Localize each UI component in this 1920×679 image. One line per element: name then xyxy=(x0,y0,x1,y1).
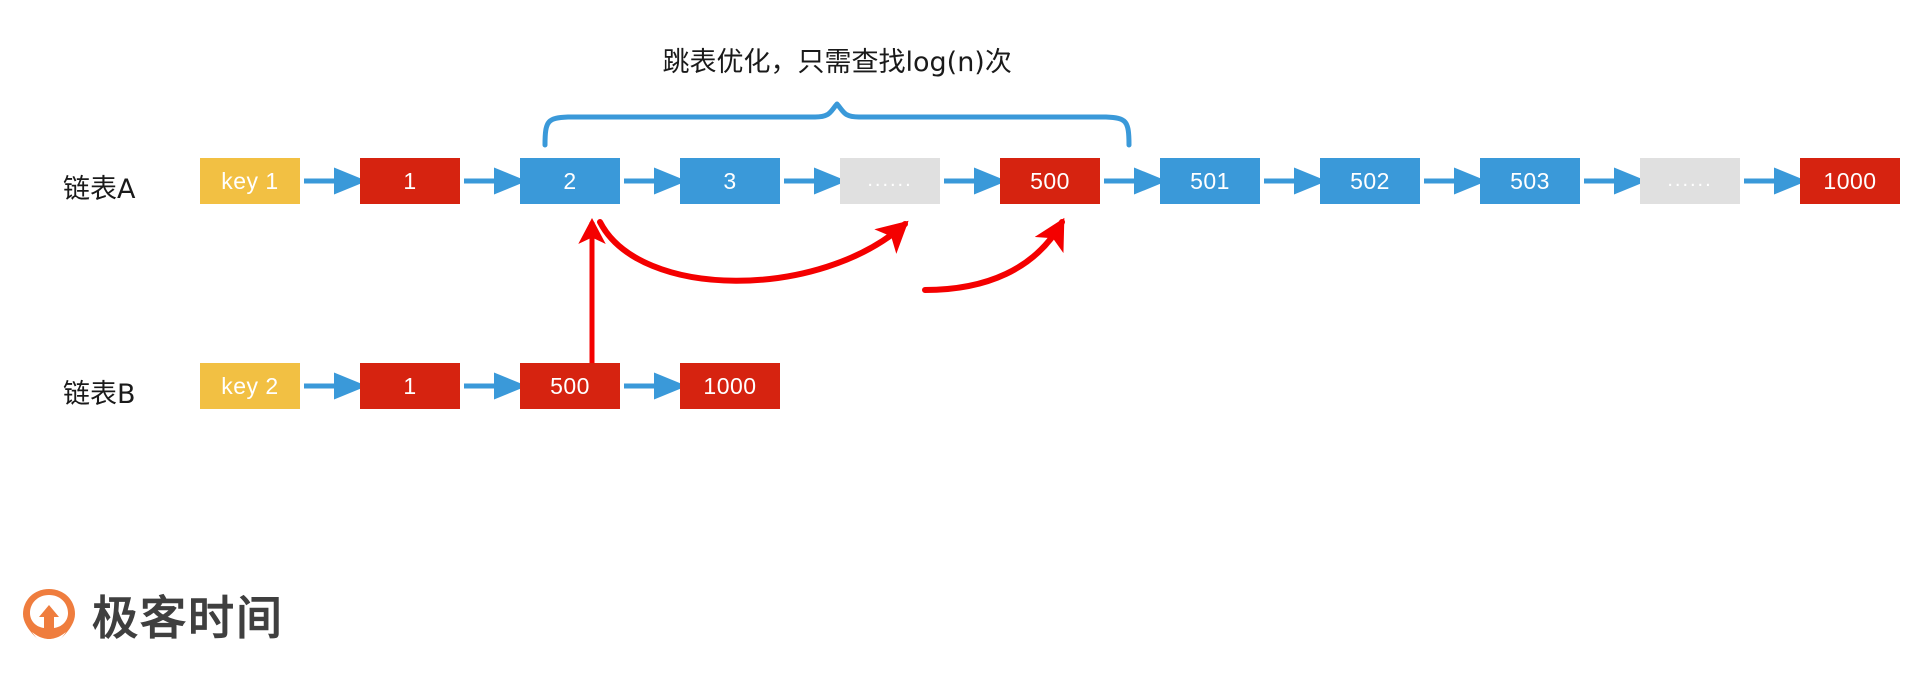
span-brace xyxy=(545,104,1129,145)
diagram-title: 跳表优化，只需查找log(n)次 xyxy=(663,40,1012,79)
brand-logo-text: 极客时间 xyxy=(92,595,284,641)
node-a-7: 502 xyxy=(1320,158,1420,204)
node-b-0: key 2 xyxy=(200,363,300,409)
diagram-canvas: 跳表优化，只需查找log(n)次 链表A 链表B xyxy=(0,0,1920,679)
node-a-2: 2 xyxy=(520,158,620,204)
node-a-1: 1 xyxy=(360,158,460,204)
node-b-1: 1 xyxy=(360,363,460,409)
connector-layer xyxy=(0,0,1920,679)
row-label-list-b: 链表B xyxy=(63,372,136,411)
geektime-pin-icon xyxy=(20,587,78,649)
node-a-9: ...... xyxy=(1640,158,1740,204)
node-a-5: 500 xyxy=(1000,158,1100,204)
node-a-8: 503 xyxy=(1480,158,1580,204)
skip-link-a2-to-ellipsis xyxy=(600,222,905,281)
node-b-3: 1000 xyxy=(680,363,780,409)
skip-link-ellipsis-to-a500 xyxy=(925,222,1062,290)
node-b-2: 500 xyxy=(520,363,620,409)
node-a-6: 501 xyxy=(1160,158,1260,204)
node-a-4: ...... xyxy=(840,158,940,204)
row-label-list-a: 链表A xyxy=(63,167,135,206)
node-a-10: 1000 xyxy=(1800,158,1900,204)
brand-logo: 极客时间 xyxy=(20,587,284,649)
node-a-3: 3 xyxy=(680,158,780,204)
node-a-0: key 1 xyxy=(200,158,300,204)
